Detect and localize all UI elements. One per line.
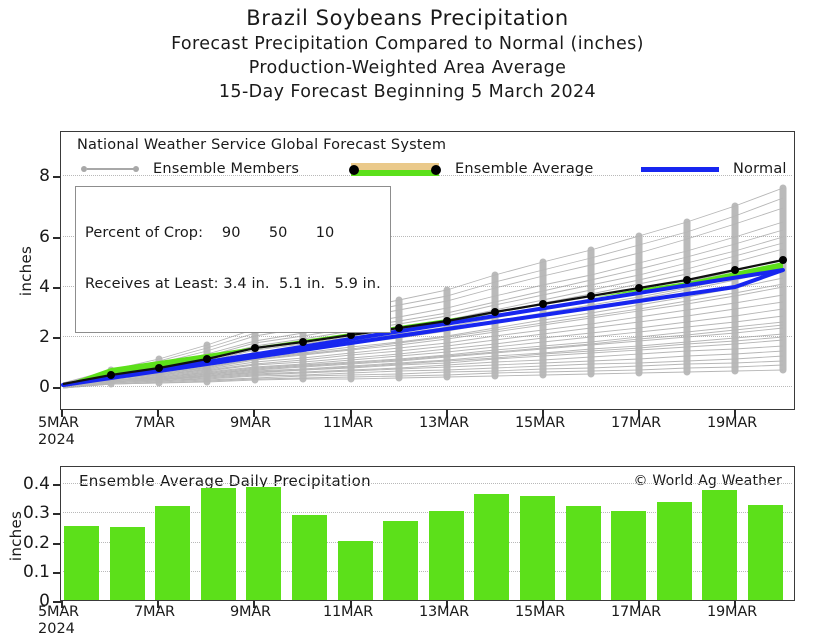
bottom-xtick-17mar: 17MAR xyxy=(611,604,661,620)
bar-gridline-04 xyxy=(63,483,792,484)
bar-item xyxy=(657,502,692,600)
legend-source-label: National Weather Service Global Forecast… xyxy=(77,137,446,153)
bottom-xtick-19mar: 19MAR xyxy=(707,604,757,620)
top-xtick-17mar: 17MAR xyxy=(611,415,661,431)
top-ytick-2: 2 xyxy=(16,327,50,347)
top-xtick-13mar: 13MAR xyxy=(419,415,469,431)
legend-ensemble-average-label: Ensemble Average xyxy=(455,161,593,177)
bottom-xtick-5mar: 5MAR xyxy=(38,604,79,620)
normal-swatch xyxy=(641,167,719,172)
ensemble-members-swatch xyxy=(81,164,143,174)
cumulative-precipitation-plot: National Weather Service Global Forecast… xyxy=(60,131,795,410)
ensemble-average-swatch xyxy=(351,163,439,176)
bar-item xyxy=(338,541,373,601)
ensemble-member-dot-right xyxy=(133,166,139,172)
top-xtick-9mar: 9MAR xyxy=(230,415,271,431)
bar-item xyxy=(474,494,509,600)
chart-subtitle-2: Production-Weighted Area Average xyxy=(0,56,815,80)
top-ytick-8: 8 xyxy=(16,166,50,186)
bar-item xyxy=(246,487,281,600)
percent-of-crop-row1: Percent of Crop: 90 50 10 xyxy=(85,225,381,242)
bottom-xtick-11mar: 11MAR xyxy=(323,604,373,620)
bar-item xyxy=(566,506,601,600)
bar-item xyxy=(702,490,737,600)
top-xaxis-year: 2024 xyxy=(38,432,75,448)
ensemble-member-dot-left xyxy=(81,166,87,172)
bar-item xyxy=(611,511,646,600)
top-xtick-5mar: 5MAR xyxy=(38,415,79,431)
bar-item xyxy=(383,521,418,600)
bottom-xtick-13mar: 13MAR xyxy=(419,604,469,620)
bar-item xyxy=(748,505,783,600)
bar-item xyxy=(64,526,99,600)
bar-item xyxy=(155,506,190,600)
ensemble-average-swatch-dot-left xyxy=(349,165,359,175)
ensemble-average-swatch-dot-right xyxy=(431,165,441,175)
daily-precipitation-plot: Ensemble Average Daily Precipitation © W… xyxy=(60,466,795,601)
bottom-xtick-9mar: 9MAR xyxy=(230,604,271,620)
legend-normal-label: Normal xyxy=(733,161,787,177)
bottom-ytick-02: 0.2 xyxy=(0,533,50,553)
ensemble-average-swatch-green xyxy=(351,170,439,176)
ensemble-member-line xyxy=(87,168,137,170)
top-xtick-15mar: 15MAR xyxy=(515,415,565,431)
bottom-xtick-15mar: 15MAR xyxy=(515,604,565,620)
bar-item xyxy=(520,496,555,600)
bar-item xyxy=(429,511,464,600)
top-xtick-7mar: 7MAR xyxy=(134,415,175,431)
bottom-xtick-7mar: 7MAR xyxy=(134,604,175,620)
chart-subtitle-3: 15-Day Forecast Beginning 5 March 2024 xyxy=(0,80,815,104)
top-xtick-11mar: 11MAR xyxy=(323,415,373,431)
bottom-panel-subtitle: Ensemble Average Daily Precipitation xyxy=(79,472,371,490)
title-block: Brazil Soybeans Precipitation Forecast P… xyxy=(0,0,815,104)
top-ytick-4: 4 xyxy=(16,277,50,297)
bar-item xyxy=(201,488,236,600)
bottom-ytick-03: 0.3 xyxy=(0,503,50,523)
percent-of-crop-box: Percent of Crop: 90 50 10 Receives at Le… xyxy=(75,186,391,333)
top-xtick-19mar: 19MAR xyxy=(707,415,757,431)
chart-subtitle-1: Forecast Precipitation Compared to Norma… xyxy=(0,32,815,56)
top-ytick-0: 0 xyxy=(16,377,50,397)
copyright-label: © World Ag Weather xyxy=(634,473,782,489)
ensemble-average-swatch-tan xyxy=(351,163,439,170)
bottom-ytickmark-0 xyxy=(53,601,61,603)
bottom-xaxis-year: 2024 xyxy=(38,621,75,637)
bottom-ytick-04: 0.4 xyxy=(0,474,50,494)
bar-item xyxy=(292,515,327,600)
chart-title: Brazil Soybeans Precipitation xyxy=(0,5,815,32)
chart-page: Brazil Soybeans Precipitation Forecast P… xyxy=(0,0,815,640)
legend-ensemble-members-label: Ensemble Members xyxy=(153,161,299,177)
percent-of-crop-row2: Receives at Least: 3.4 in. 5.1 in. 5.9 i… xyxy=(85,276,381,293)
bottom-ytick-01: 0.1 xyxy=(0,562,50,582)
top-ytick-6: 6 xyxy=(16,227,50,247)
bar-item xyxy=(110,527,145,600)
